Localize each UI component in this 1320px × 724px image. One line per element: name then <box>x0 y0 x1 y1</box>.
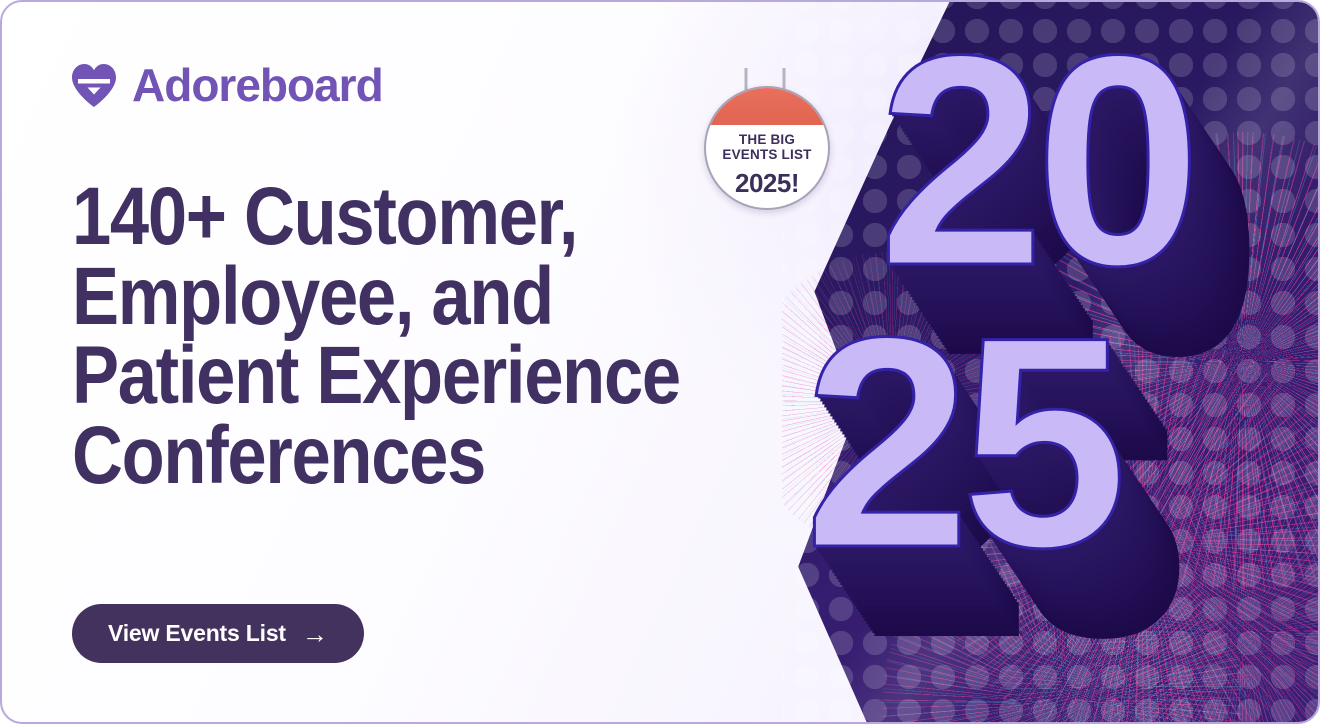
content-column: Adoreboard 140+ Customer, Employee, and … <box>2 2 802 724</box>
badge-top-band <box>706 88 828 125</box>
arrow-right-icon: → <box>302 621 328 647</box>
brand-name: Adoreboard <box>132 58 383 112</box>
badge-year: 2025! <box>706 168 828 199</box>
cta-label: View Events List <box>108 620 286 647</box>
page-title: 140+ Customer, Employee, and Patient Exp… <box>72 177 691 495</box>
heart-triangle-icon <box>70 61 118 109</box>
badge-line-2: EVENTS LIST <box>722 147 811 162</box>
year-numeral-bottom: 25 <box>804 322 1118 562</box>
badge-title: THE BIGEVENTS LIST <box>706 132 828 162</box>
promo-banner: 20 25 Adoreboard 140+ Customer, Employee… <box>0 0 1320 724</box>
events-list-badge[interactable]: THE BIGEVENTS LIST 2025! <box>704 86 830 210</box>
brand-logo[interactable]: Adoreboard <box>70 58 383 112</box>
badge-disc: THE BIGEVENTS LIST 2025! <box>704 86 830 210</box>
year-artwork: 20 25 <box>782 2 1320 724</box>
view-events-list-button[interactable]: View Events List → <box>72 604 364 663</box>
badge-line-1: THE BIG <box>739 132 795 147</box>
year-numeral-top: 20 <box>878 40 1192 280</box>
